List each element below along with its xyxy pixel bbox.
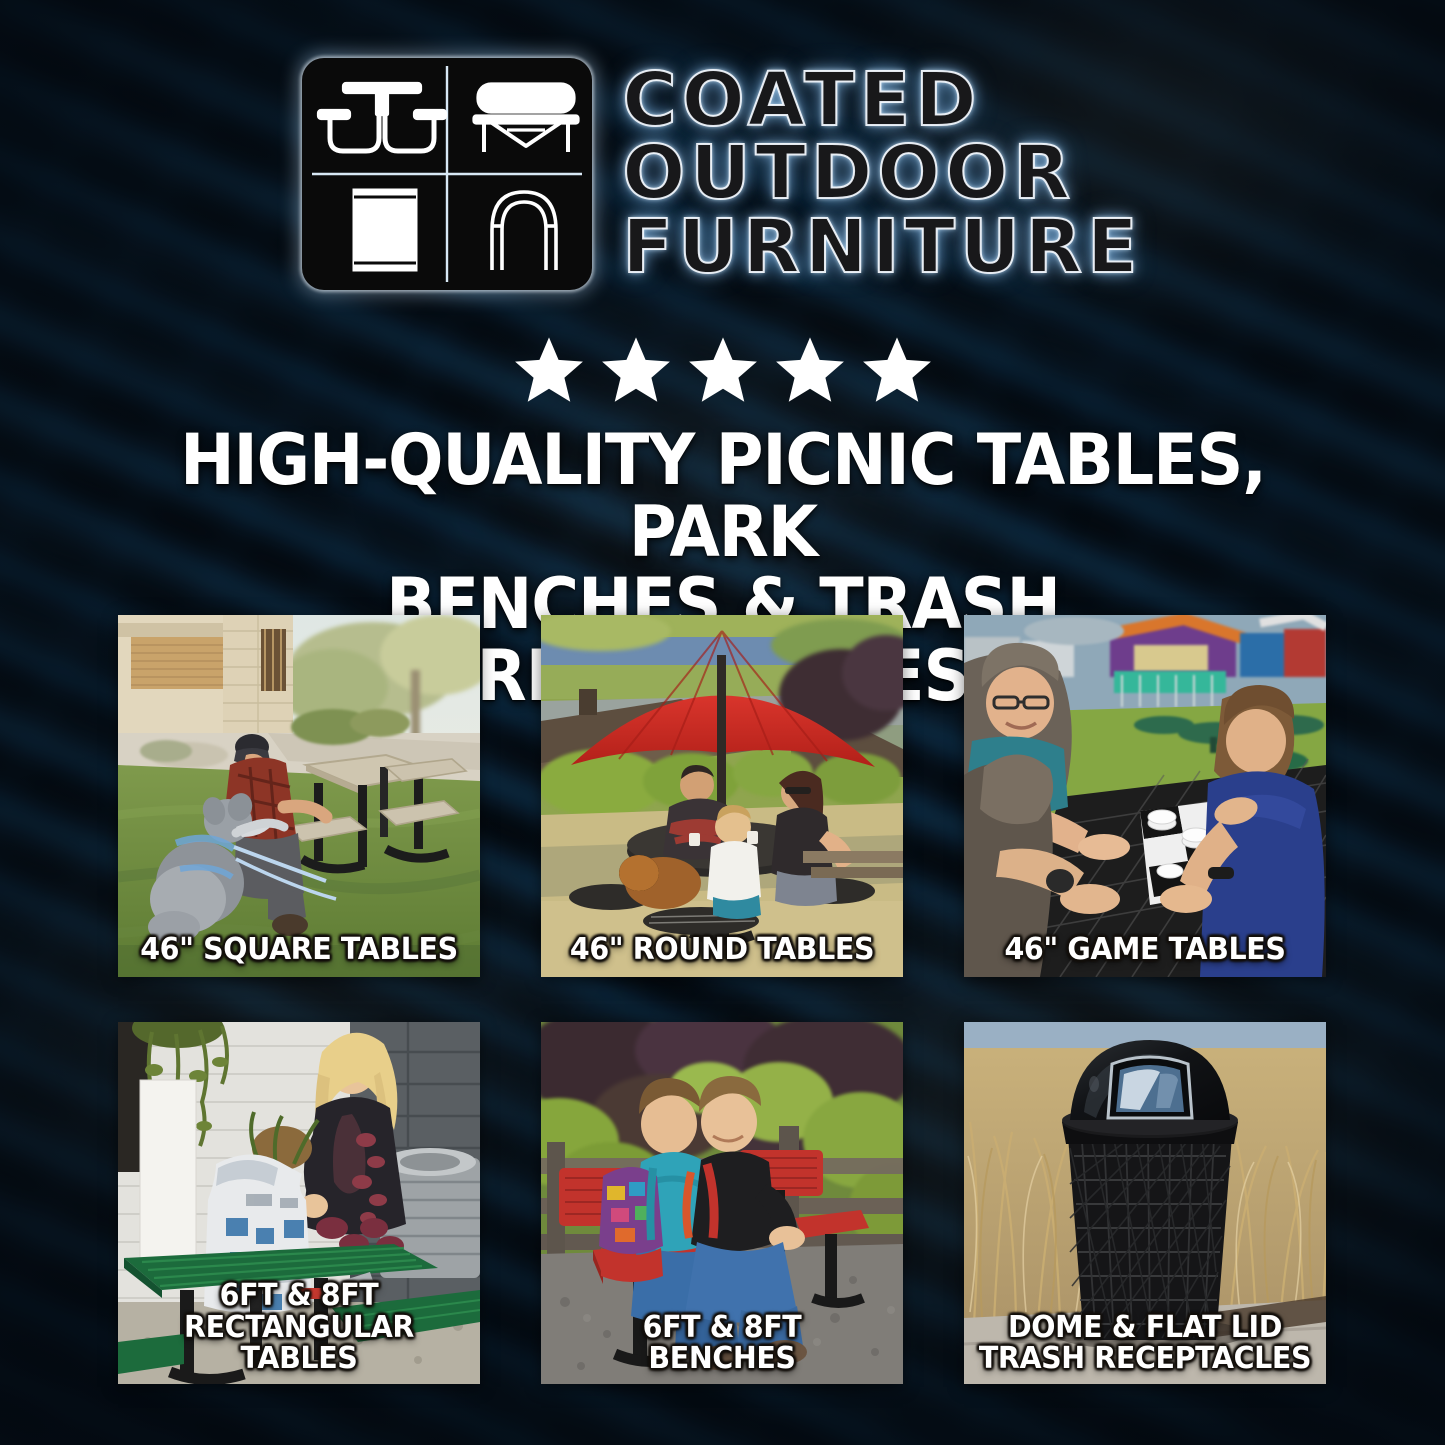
caption-line: 6FT & 8FT bbox=[556, 1312, 889, 1343]
product-caption-square-tables: 46" SQUARE TABLES bbox=[118, 934, 480, 965]
product-tile-square-tables[interactable]: 46" SQUARE TABLES bbox=[118, 615, 480, 977]
caption-line: 46" ROUND TABLES bbox=[556, 934, 889, 965]
product-tile-game-tables[interactable]: 46" GAME TABLES bbox=[964, 615, 1326, 977]
caption-line: BENCHES bbox=[556, 1343, 889, 1374]
picnic-table-icon bbox=[319, 84, 445, 151]
product-tile-benches[interactable]: 6FT & 8FT BENCHES bbox=[541, 1022, 903, 1384]
star-icon bbox=[773, 333, 847, 407]
caption-line: 46" SQUARE TABLES bbox=[133, 934, 466, 965]
product-caption-benches: 6FT & 8FT BENCHES bbox=[541, 1312, 903, 1374]
bike-rack-arch-icon bbox=[492, 192, 556, 270]
star-icon bbox=[686, 333, 760, 407]
product-caption-rectangular-tables: 6FT & 8FT RECTANGULAR TABLES bbox=[118, 1280, 480, 1374]
product-photo-game-tables bbox=[964, 615, 1326, 977]
logo-line-1: COATED bbox=[622, 65, 1142, 136]
product-caption-trash-receptacles: DOME & FLAT LID TRASH RECEPTACLES bbox=[964, 1312, 1326, 1374]
product-photo-round-tables bbox=[541, 615, 903, 977]
bench-side-icon bbox=[474, 84, 578, 152]
trash-receptacle-icon bbox=[354, 190, 416, 270]
logo-wordmark: COATED OUTDOOR FURNITURE bbox=[622, 65, 1142, 282]
product-caption-game-tables: 46" GAME TABLES bbox=[964, 934, 1326, 965]
caption-line: 46" GAME TABLES bbox=[979, 934, 1312, 965]
star-icon bbox=[599, 333, 673, 407]
brand-logo: COATED OUTDOOR FURNITURE bbox=[0, 58, 1445, 290]
logo-icon-grid bbox=[302, 58, 592, 290]
logo-line-2: OUTDOOR bbox=[622, 138, 1142, 209]
caption-line: TRASH RECEPTACLES bbox=[979, 1343, 1312, 1374]
product-grid: 46" SQUARE TABLES bbox=[118, 615, 1326, 1384]
logo-line-3: FURNITURE bbox=[622, 212, 1142, 283]
rating-stars bbox=[0, 333, 1445, 407]
product-tile-trash-receptacles[interactable]: DOME & FLAT LID TRASH RECEPTACLES bbox=[964, 1022, 1326, 1384]
product-photo-square-tables bbox=[118, 615, 480, 977]
headline-line-1: HIGH-QUALITY PICNIC TABLES, PARK bbox=[137, 424, 1309, 568]
caption-line: 6FT & 8FT bbox=[133, 1280, 466, 1311]
caption-line: DOME & FLAT LID bbox=[979, 1312, 1312, 1343]
star-icon bbox=[860, 333, 934, 407]
product-tile-rectangular-tables[interactable]: 6FT & 8FT RECTANGULAR TABLES bbox=[118, 1022, 480, 1384]
star-icon bbox=[512, 333, 586, 407]
product-caption-round-tables: 46" ROUND TABLES bbox=[541, 934, 903, 965]
caption-line: RECTANGULAR TABLES bbox=[133, 1312, 466, 1374]
product-tile-round-tables[interactable]: 46" ROUND TABLES bbox=[541, 615, 903, 977]
